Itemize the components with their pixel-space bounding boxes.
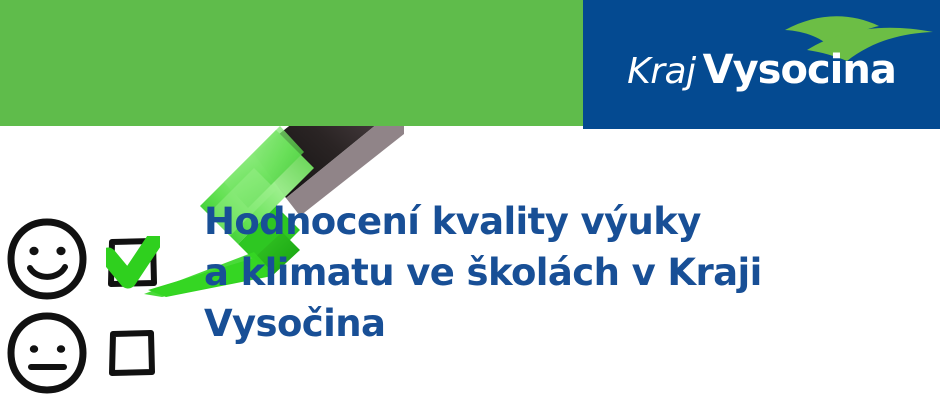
title-line-1: Hodnocení kvality výuky [204, 196, 924, 247]
logo-wordmark: KrajVysocina [583, 46, 940, 96]
blue-logo-band: KrajVysocina [583, 0, 940, 129]
title-line-2: a klimatu ve školách v Kraji [204, 247, 924, 298]
smiley-neutral-face-icon [6, 312, 88, 394]
green-header-band [0, 0, 583, 126]
page-title: Hodnocení kvality výuky a klimatu ve ško… [204, 196, 924, 349]
checkbox-empty-icon[interactable] [108, 329, 156, 377]
kraj-vysocina-logo: KrajVysocina [583, 0, 940, 129]
checkbox-checked-icon[interactable] [106, 236, 160, 290]
banner-image: KrajVysocina Hodnocení kvality výuky a k… [0, 0, 940, 402]
logo-word-kraj: Kraj [627, 51, 695, 92]
title-line-3: Vysočina [204, 298, 924, 349]
smiley-happy-face-icon [6, 218, 88, 300]
logo-word-vysocina: Vysocina [703, 47, 896, 93]
